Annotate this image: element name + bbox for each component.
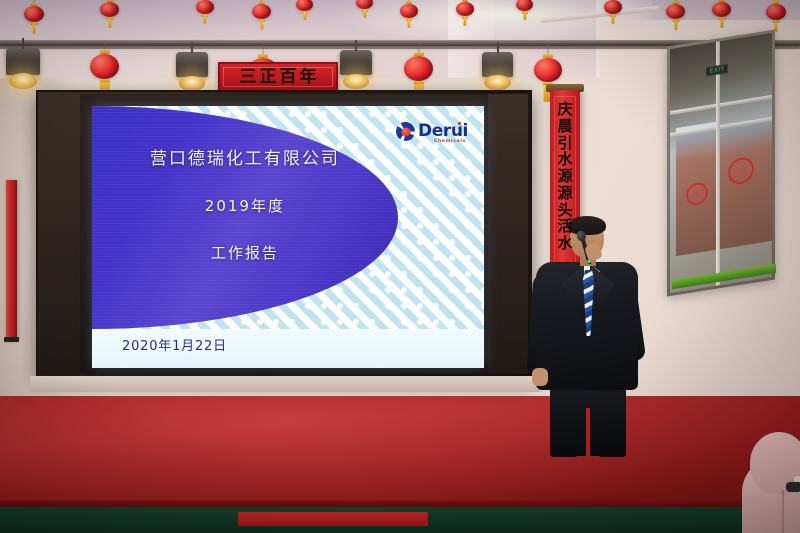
- banner-char: 头: [557, 203, 572, 219]
- window-mullion-vertical: [716, 41, 720, 286]
- lantern-ceiling: [24, 6, 44, 22]
- screen-bezel-right: [488, 94, 528, 374]
- presentation-slide[interactable]: 营口德瑞化工有限公司 2019年度 工作报告 2020年1月22日 Derui …: [92, 106, 484, 368]
- lantern-ceiling: [456, 2, 474, 16]
- derui-swirl-icon: [396, 122, 415, 141]
- exit-sign: EXIT: [706, 64, 728, 76]
- screen-panel: 营口德瑞化工有限公司 2019年度 工作报告 2020年1月22日 Derui …: [40, 94, 528, 374]
- slide-date: 2020年1月22日: [122, 335, 227, 354]
- stage-spotlight: [176, 52, 208, 88]
- stage-spotlight: [6, 48, 40, 86]
- lantern-ceiling: [356, 0, 373, 9]
- lantern-truss: [90, 54, 119, 79]
- lantern-ceiling: [196, 0, 214, 14]
- lantern-ceiling: [296, 0, 313, 11]
- lantern-ceiling: [516, 0, 533, 11]
- banner-char: 晨: [557, 119, 572, 135]
- derui-tagline: Chemicals: [434, 139, 466, 144]
- speaker-presenter: [528, 218, 646, 454]
- stage-spotlight: [340, 50, 372, 86]
- screen-bezel-left: [40, 94, 80, 374]
- derui-wordmark: Derui: [418, 123, 468, 140]
- exit-sign-label: EXIT: [710, 66, 725, 74]
- lantern-ceiling: [666, 4, 685, 19]
- window-mullion-horizontal: [670, 95, 772, 115]
- speaker-lowered-hand: [532, 368, 548, 386]
- lantern-ceiling: [712, 2, 731, 17]
- lantern-ceiling: [766, 4, 786, 20]
- banner-char: 引: [557, 136, 572, 152]
- banner-char: 源: [557, 169, 572, 185]
- lantern-ceiling: [100, 2, 119, 17]
- speaker-right-shoe: [598, 448, 626, 457]
- audience-member-foreground: [742, 432, 800, 533]
- speaker-leg-gap: [586, 408, 590, 456]
- window: EXIT: [667, 29, 775, 296]
- stage-step: [238, 512, 428, 526]
- banner-char: 源: [557, 186, 572, 202]
- window-glass: EXIT: [670, 33, 772, 293]
- banner-char: 庆: [557, 102, 572, 118]
- banner-char: 水: [557, 152, 572, 168]
- derui-logo-dot-icon: [458, 122, 461, 125]
- banner-char: 活: [557, 219, 572, 235]
- stage-spotlight: [482, 52, 513, 87]
- lantern-ceiling: [400, 4, 418, 18]
- lantern-truss: [404, 56, 433, 81]
- left-wall-banner-cap: [4, 337, 19, 342]
- speaker-left-shoe: [550, 448, 578, 457]
- left-wall-banner: [6, 180, 17, 340]
- derui-logo: Derui Chemicals: [396, 122, 468, 141]
- banner-char: 水: [557, 236, 572, 252]
- lantern-ceiling: [604, 0, 622, 14]
- stage-floor: [0, 396, 800, 506]
- lantern-ceiling: [252, 4, 271, 19]
- slide-company-name: 营口德瑞化工有限公司: [150, 144, 340, 169]
- audience-handheld-object: [786, 482, 800, 492]
- lantern-truss: [534, 58, 562, 82]
- horizontal-red-banner: 三 正 百 年: [218, 62, 338, 92]
- led-display-screen[interactable]: 营口德瑞化工有限公司 2019年度 工作报告 2020年1月22日 Derui …: [36, 90, 532, 378]
- slide-year: 2019年度: [205, 195, 285, 216]
- presentation-room-scene: 三 正 百 年 庆 晨 引 水 源 源 头 活 水 EXIT: [0, 0, 800, 533]
- slide-report-title: 工作报告: [211, 242, 279, 263]
- slide-text-block: 营口德瑞化工有限公司 2019年度 工作报告: [92, 106, 398, 329]
- banner-inner-border: [223, 67, 333, 87]
- screen-base-ledge: [30, 376, 540, 392]
- audience-jacket-zipper: [782, 490, 784, 533]
